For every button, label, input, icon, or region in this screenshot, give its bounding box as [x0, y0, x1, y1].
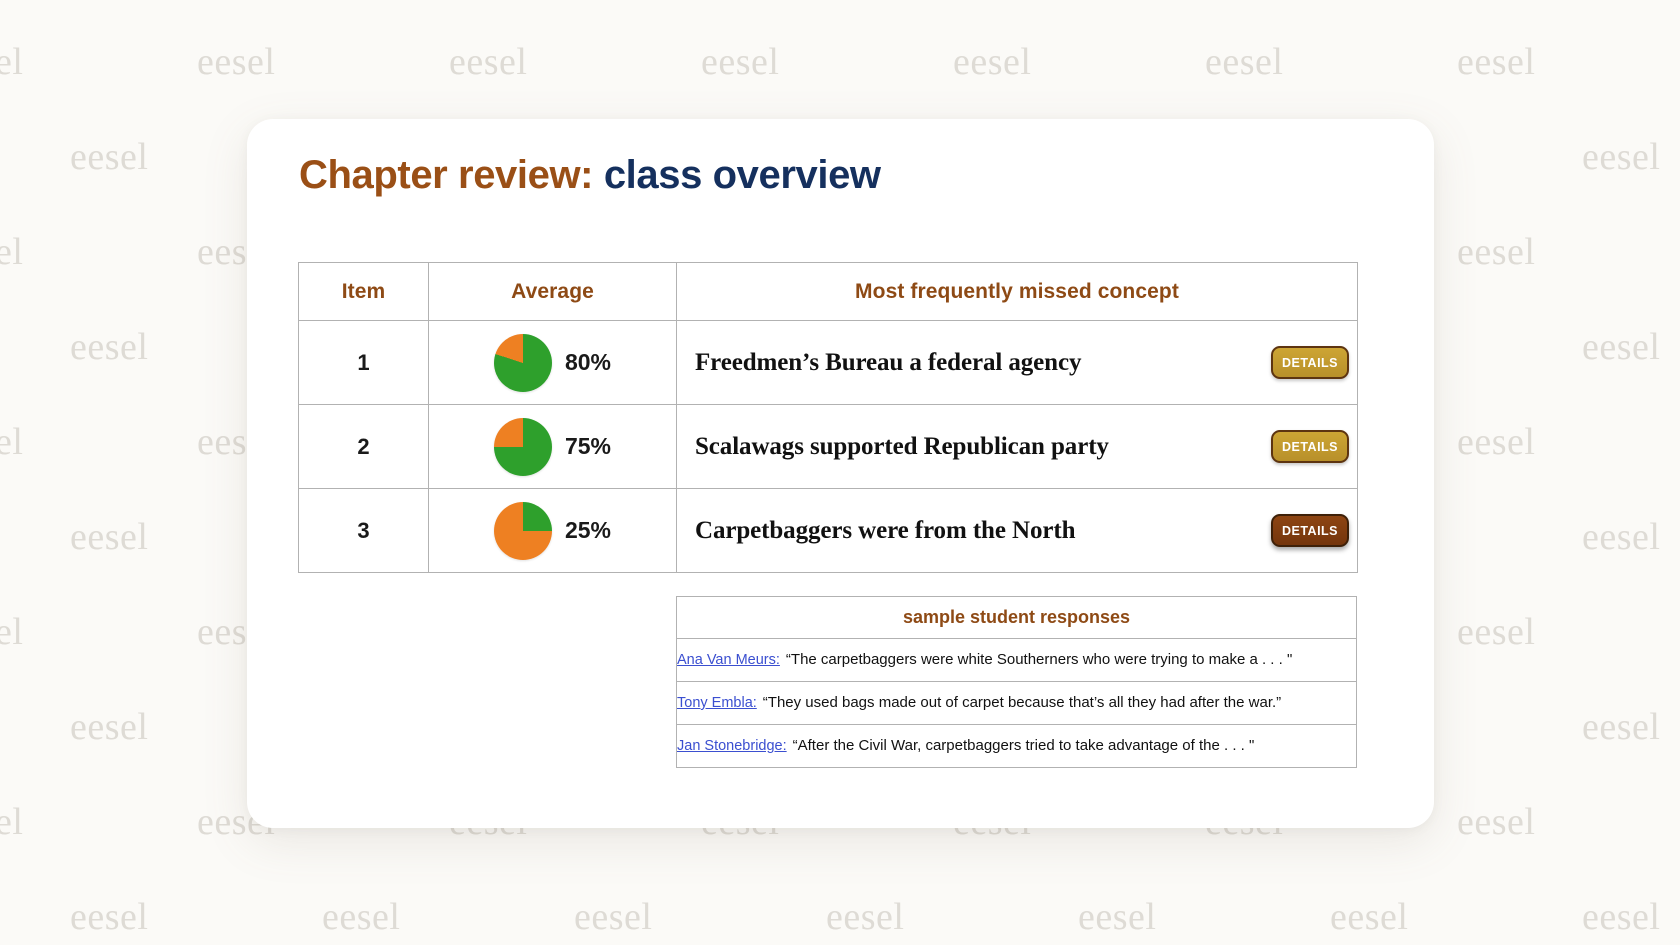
response-cell: Jan Stonebridge:“After the Civil War, ca…: [677, 725, 1357, 768]
cell-item-number: 3: [299, 489, 429, 573]
response-quote: “After the Civil War, carpetbaggers trie…: [793, 737, 1255, 754]
percent-label: 80%: [565, 349, 611, 376]
responses-header: sample student responses: [677, 597, 1357, 639]
cell-concept: Freedmen’s Bureau a federal agencyDETAIL…: [677, 321, 1358, 405]
concept-text: Carpetbaggers were from the North: [695, 517, 1075, 545]
watermark-item: eesel: [1582, 895, 1660, 939]
details-button[interactable]: DETAILS: [1271, 346, 1349, 379]
concept-text: Scalawags supported Republican party: [695, 433, 1109, 461]
watermark-item: eesel: [449, 40, 527, 84]
response-row: Ana Van Meurs:“The carpetbaggers were wh…: [677, 639, 1357, 682]
watermark-item: eesel: [70, 515, 148, 559]
watermark-item: eesel: [953, 40, 1031, 84]
watermark-item: eesel: [1457, 800, 1535, 844]
watermark-item: eesel: [0, 610, 23, 654]
cell-average: 25%: [429, 489, 677, 573]
watermark-item: eesel: [197, 40, 275, 84]
page-title-primary: Chapter review:: [299, 153, 593, 197]
cell-average: 75%: [429, 405, 677, 489]
column-header-concept: Most frequently missed concept: [677, 263, 1358, 321]
watermark-item: eesel: [1582, 325, 1660, 369]
table-row: 325%Carpetbaggers were from the NorthDET…: [299, 489, 1358, 573]
pie-chart-icon: [494, 334, 552, 392]
percent-label: 25%: [565, 517, 611, 544]
response-quote: “They used bags made out of carpet becau…: [763, 694, 1281, 711]
watermark-item: eesel: [1457, 420, 1535, 464]
details-button[interactable]: DETAILS: [1271, 514, 1349, 547]
watermark-item: eesel: [1582, 515, 1660, 559]
page-title: Chapter review: class overview: [299, 153, 881, 198]
watermark-item: eesel: [826, 895, 904, 939]
watermark-item: eesel: [701, 40, 779, 84]
student-name-link[interactable]: Tony Embla:: [677, 695, 757, 711]
watermark-item: eesel: [0, 800, 23, 844]
concept-text: Freedmen’s Bureau a federal agency: [695, 349, 1081, 377]
watermark-item: eesel: [70, 705, 148, 749]
chapter-review-table: Item Average Most frequently missed conc…: [298, 262, 1358, 573]
watermark-item: eesel: [70, 135, 148, 179]
watermark-item: eesel: [1582, 135, 1660, 179]
watermark-item: eesel: [1078, 895, 1156, 939]
sample-responses-panel: sample student responses Ana Van Meurs:“…: [676, 596, 1357, 768]
watermark-item: eesel: [1582, 705, 1660, 749]
response-quote: “The carpetbaggers were white Southerner…: [786, 651, 1292, 668]
watermark-item: eesel: [1330, 895, 1408, 939]
cell-concept: Carpetbaggers were from the NorthDETAILS: [677, 489, 1358, 573]
response-cell: Ana Van Meurs:“The carpetbaggers were wh…: [677, 639, 1357, 682]
watermark-item: eesel: [1457, 610, 1535, 654]
watermark-item: eesel: [0, 230, 23, 274]
table-header-row: Item Average Most frequently missed conc…: [299, 263, 1358, 321]
response-cell: Tony Embla:“They used bags made out of c…: [677, 682, 1357, 725]
details-button[interactable]: DETAILS: [1271, 430, 1349, 463]
slide-card: Chapter review: class overview Item Aver…: [247, 119, 1434, 828]
response-row: Tony Embla:“They used bags made out of c…: [677, 682, 1357, 725]
watermark-item: eesel: [70, 325, 148, 369]
watermark-item: eesel: [1457, 40, 1535, 84]
watermark-item: eesel: [70, 895, 148, 939]
watermark-item: eesel: [0, 420, 23, 464]
cell-item-number: 1: [299, 321, 429, 405]
response-row: Jan Stonebridge:“After the Civil War, ca…: [677, 725, 1357, 768]
percent-label: 75%: [565, 433, 611, 460]
watermark-item: eesel: [574, 895, 652, 939]
column-header-average: Average: [429, 263, 677, 321]
cell-average: 80%: [429, 321, 677, 405]
responses-header-row: sample student responses: [677, 597, 1357, 639]
column-header-item: Item: [299, 263, 429, 321]
watermark-item: eesel: [1205, 40, 1283, 84]
page-title-secondary: class overview: [604, 153, 881, 197]
table-row: 180%Freedmen’s Bureau a federal agencyDE…: [299, 321, 1358, 405]
table-row: 275%Scalawags supported Republican party…: [299, 405, 1358, 489]
pie-chart-icon: [494, 418, 552, 476]
student-name-link[interactable]: Ana Van Meurs:: [677, 652, 780, 668]
pie-chart-icon: [494, 502, 552, 560]
watermark-item: eesel: [0, 40, 23, 84]
cell-concept: Scalawags supported Republican partyDETA…: [677, 405, 1358, 489]
cell-item-number: 2: [299, 405, 429, 489]
student-name-link[interactable]: Jan Stonebridge:: [677, 738, 787, 754]
watermark-item: eesel: [1457, 230, 1535, 274]
watermark-item: eesel: [322, 895, 400, 939]
